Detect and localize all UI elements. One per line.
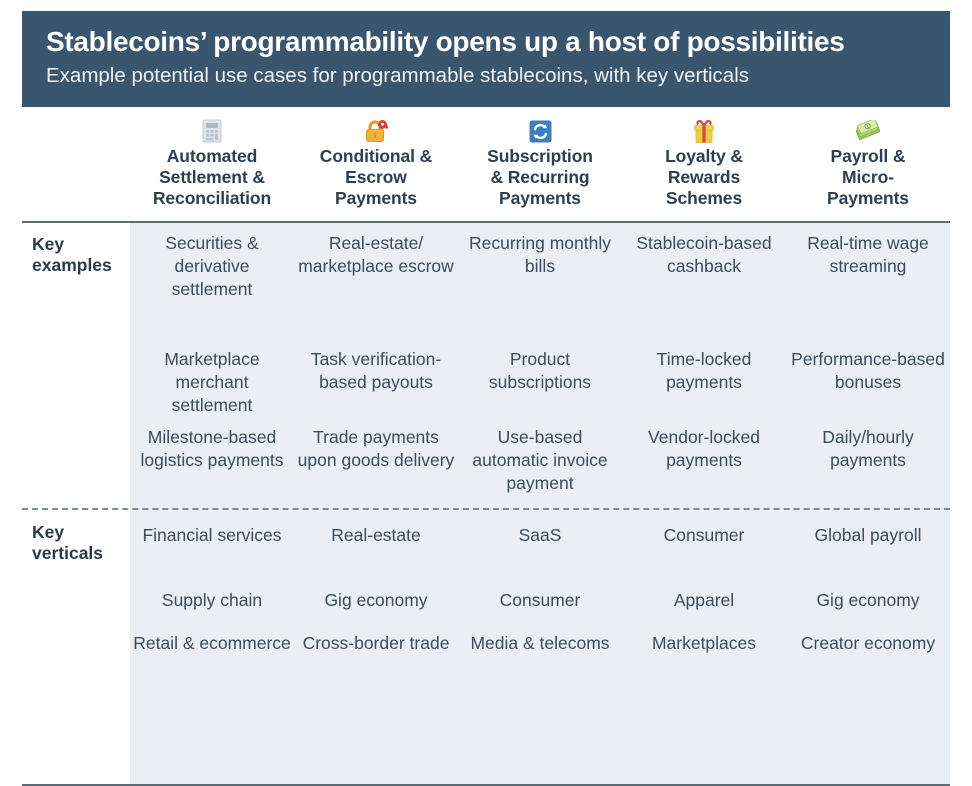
table-cell: Consumer (622, 524, 786, 547)
column-header-label: Conditional & Escrow Payments (320, 146, 432, 209)
table-cell: Stablecoin-based cashback (622, 232, 786, 278)
lock-with-key-icon (363, 118, 389, 144)
table-cell: Milestone-based logistics payments (130, 426, 294, 472)
table-row: Milestone-based logistics payments Trade… (130, 426, 950, 495)
column-header-loyalty-rewards: Loyalty & Rewards Schemes (622, 114, 786, 221)
table-cell: Vendor-locked payments (622, 426, 786, 472)
row-label-line-2: examples (32, 255, 112, 275)
table-cell: Creator economy (786, 632, 950, 655)
header-line-2: & Recurring (490, 167, 589, 187)
table-cell: Global payroll (786, 524, 950, 547)
row-label-key-verticals: Key verticals (32, 522, 128, 564)
page-title: Stablecoins’ programmability opens up a … (46, 25, 926, 59)
row-label-line-1: Key (32, 234, 64, 254)
table-cell: Gig economy (786, 589, 950, 612)
header-line-3: Payments (499, 188, 581, 208)
table-cell: Performance-based bonuses (786, 348, 950, 394)
page-subtitle: Example potential use cases for programm… (46, 62, 926, 90)
data-columns-background (130, 223, 950, 785)
header-line-2: Settlement & (159, 167, 265, 187)
section-dashed-divider (22, 508, 950, 510)
table-cell: Task verification-based payouts (294, 348, 458, 394)
gift-box-icon (692, 118, 716, 144)
table-cell: Cross-border trade (294, 632, 458, 655)
table-cell: Media & telecoms (458, 632, 622, 655)
table-cell: SaaS (458, 524, 622, 547)
table-cell: Consumer (458, 589, 622, 612)
header-line-1: Loyalty & (665, 146, 743, 166)
use-case-matrix: Automated Settlement & Reconciliation Co… (22, 114, 950, 697)
top-divider (22, 221, 950, 223)
column-header-payroll-micropayments: Payroll & Micro- Payments (786, 114, 950, 221)
table-cell: Daily/hourly payments (786, 426, 950, 472)
table-cell: Use-based automatic invoice payment (458, 426, 622, 495)
recurring-arrows-icon (529, 118, 552, 144)
table-cell: Trade payments upon goods delivery (294, 426, 458, 472)
table-cell: Securities & derivative settlement (130, 232, 294, 301)
column-header-subscription-recurring: Subscription & Recurring Payments (458, 114, 622, 221)
table-cell: Retail & ecommerce (130, 632, 294, 655)
row-label-line-2: verticals (32, 543, 103, 563)
header-line-2: Escrow (345, 167, 407, 187)
header-line-3: Reconciliation (153, 188, 271, 208)
table-cell: Real-estate (294, 524, 458, 547)
column-header-label: Payroll & Micro- Payments (827, 146, 909, 209)
header-line-2: Rewards (668, 167, 740, 187)
column-header-automated-settlement: Automated Settlement & Reconciliation (130, 114, 294, 221)
header-line-1: Conditional & (320, 146, 432, 166)
column-header-label: Loyalty & Rewards Schemes (665, 146, 743, 209)
table-row: Financial services Real-estate SaaS Cons… (130, 524, 950, 547)
row-label-key-examples: Key examples (32, 234, 128, 276)
table-cell: Marketplaces (622, 632, 786, 655)
table-cell: Financial services (130, 524, 294, 547)
header-line-3: Payments (827, 188, 909, 208)
document-calculator-icon (201, 118, 223, 144)
header-line-2: Micro- (842, 167, 894, 187)
header-banner: Stablecoins’ programmability opens up a … (22, 11, 950, 107)
header-line-1: Payroll & (831, 146, 906, 166)
column-header-row: Automated Settlement & Reconciliation Co… (130, 114, 950, 221)
table-cell: Apparel (622, 589, 786, 612)
header-line-1: Automated (167, 146, 258, 166)
column-header-conditional-escrow: Conditional & Escrow Payments (294, 114, 458, 221)
table-cell: Product subscriptions (458, 348, 622, 394)
table-cell: Recurring monthly bills (458, 232, 622, 278)
table-cell: Supply chain (130, 589, 294, 612)
table-row: Retail & ecommerce Cross-border trade Me… (130, 632, 950, 655)
table-cell: Real-time wage streaming (786, 232, 950, 278)
table-cell: Time-locked payments (622, 348, 786, 394)
table-cell: Marketplace merchant settlement (130, 348, 294, 417)
row-label-line-1: Key (32, 522, 64, 542)
table-cell: Real-estate/ marketplace escrow (294, 232, 458, 278)
header-line-1: Subscription (487, 146, 593, 166)
column-header-label: Subscription & Recurring Payments (487, 146, 593, 209)
header-line-3: Payments (335, 188, 417, 208)
table-cell: Gig economy (294, 589, 458, 612)
table-row: Supply chain Gig economy Consumer Appare… (130, 589, 950, 612)
table-row: Securities & derivative settlement Real-… (130, 232, 950, 301)
column-header-label: Automated Settlement & Reconciliation (153, 146, 271, 209)
banknotes-icon (855, 118, 881, 144)
header-line-3: Schemes (666, 188, 742, 208)
table-row: Marketplace merchant settlement Task ver… (130, 348, 950, 417)
